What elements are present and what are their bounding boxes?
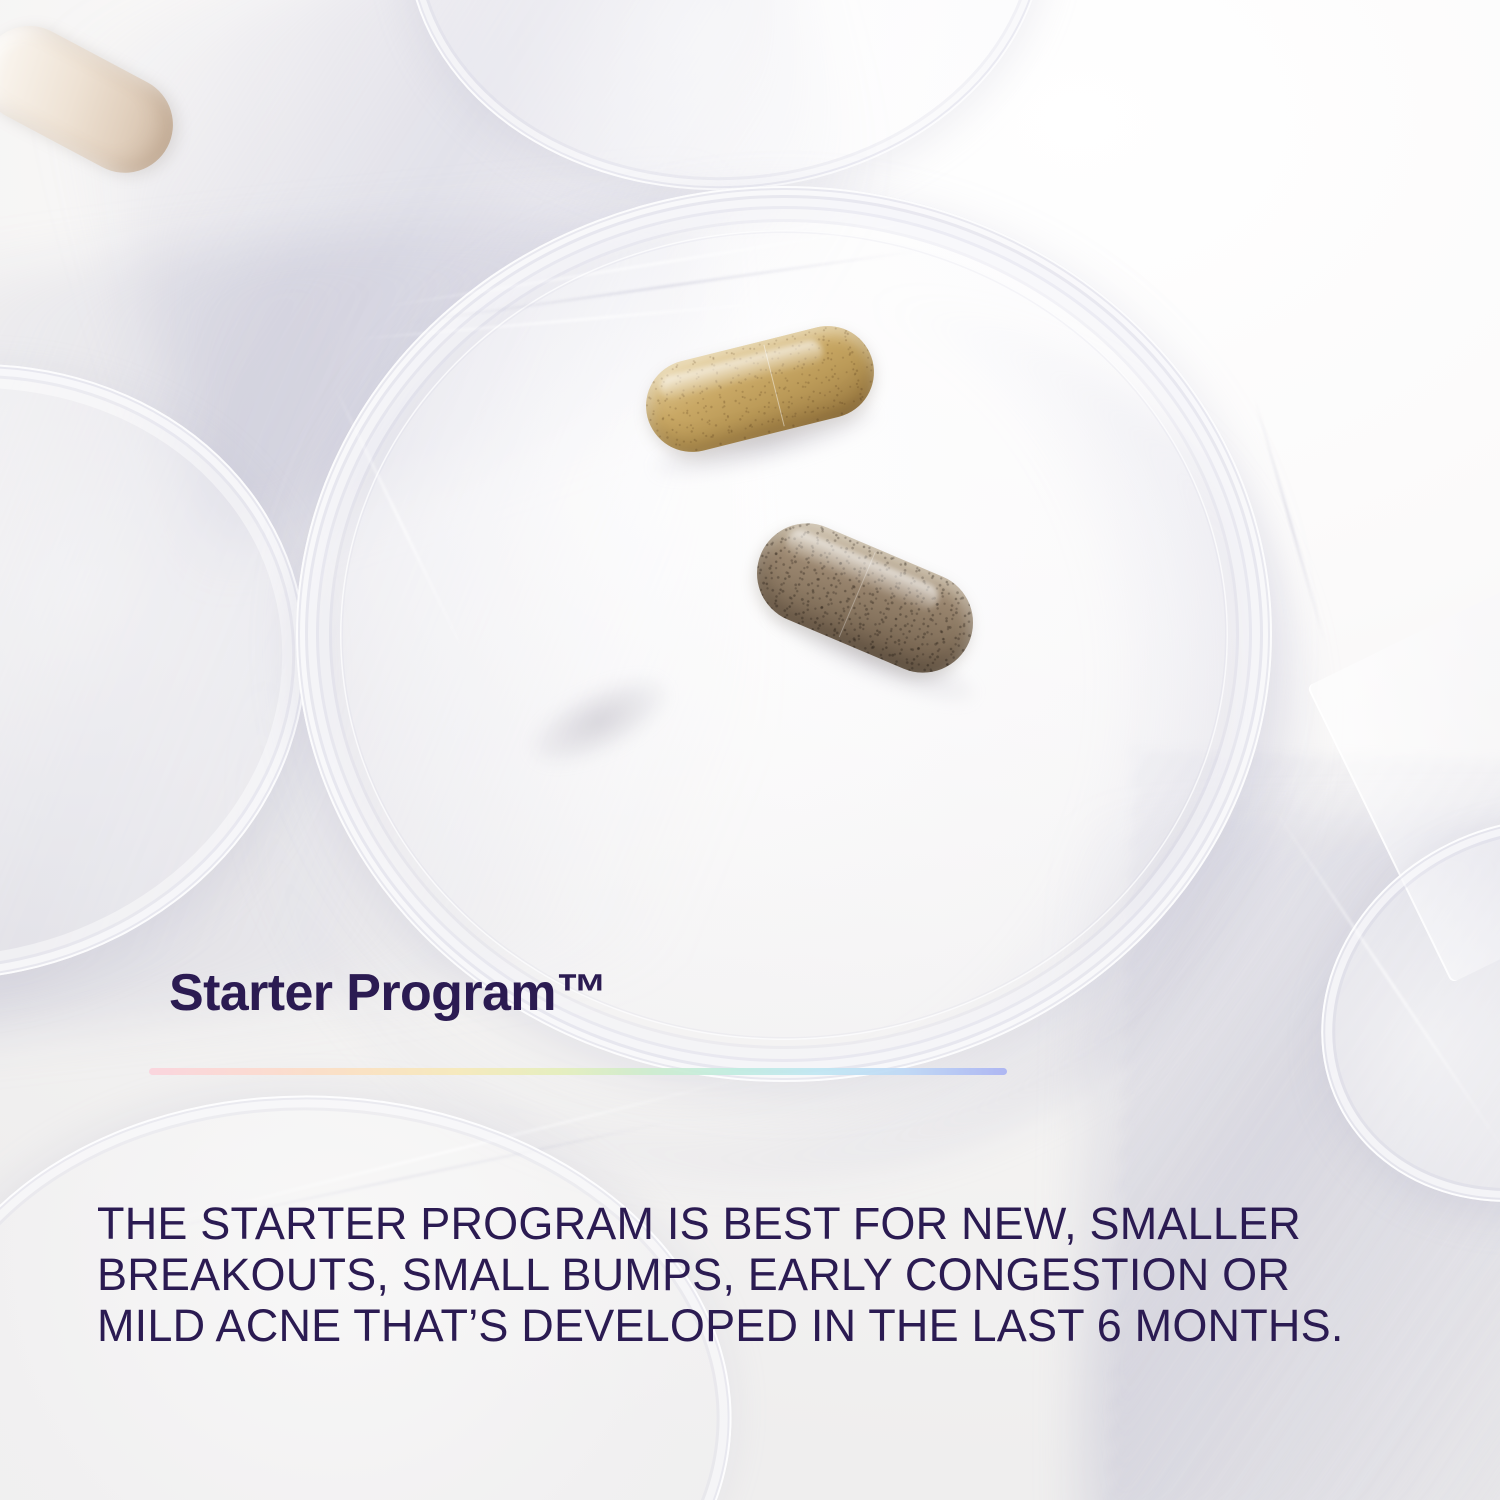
pastel-gradient-rule <box>149 1068 1007 1075</box>
description-line-3: MILD ACNE THAT’S DEVELOPED IN THE LAST 6… <box>97 1300 1417 1351</box>
product-hero-image: Starter Program™ THE STARTER PROGRAM IS … <box>0 0 1500 1500</box>
program-description: THE STARTER PROGRAM IS BEST FOR NEW, SMA… <box>97 1198 1417 1351</box>
description-line-1: THE STARTER PROGRAM IS BEST FOR NEW, SMA… <box>97 1198 1417 1249</box>
text-overlay: Starter Program™ THE STARTER PROGRAM IS … <box>0 0 1500 1500</box>
page-title: Starter Program™ <box>169 966 607 1021</box>
description-line-2: BREAKOUTS, SMALL BUMPS, EARLY CONGESTION… <box>97 1249 1417 1300</box>
